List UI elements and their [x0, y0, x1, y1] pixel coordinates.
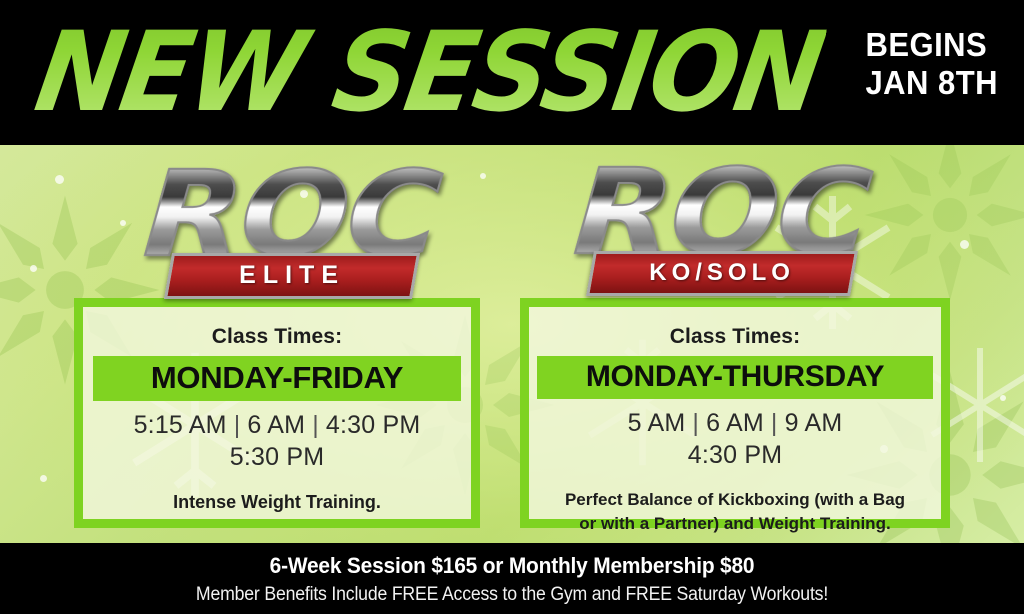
- class-times-label: Class Times:: [529, 325, 941, 349]
- logo-banner-kosolo: KO/SOLO: [586, 251, 858, 296]
- days-badge: MONDAY-THURSDAY: [537, 356, 933, 399]
- class-times-list: 5 AM|6 AM|9 AM 4:30 PM: [529, 407, 941, 471]
- times-line-2: 5:30 PM: [83, 441, 471, 473]
- program-description: Intense Weight Training.: [83, 490, 471, 515]
- class-times-label: Class Times:: [83, 325, 471, 349]
- snow-dot: [480, 173, 486, 179]
- session-start-date: BEGINS JAN 8TH: [865, 26, 998, 102]
- benefits-text: Member Benefits Include FREE Access to t…: [36, 584, 988, 606]
- program-panel-elite: Class Times: MONDAY-FRIDAY 5:15 AM|6 AM|…: [74, 298, 480, 528]
- logo-banner-text: ELITE: [171, 261, 413, 290]
- times-line-1: 5:15 AM|6 AM|4:30 PM: [83, 409, 471, 441]
- roc-kosolo-logo: ROC KO/SOLO: [572, 150, 872, 296]
- body-background: Class Times: MONDAY-FRIDAY 5:15 AM|6 AM|…: [0, 145, 1024, 543]
- days-badge: MONDAY-FRIDAY: [93, 356, 461, 401]
- times-line-2: 4:30 PM: [529, 439, 941, 471]
- program-description: Perfect Balance of Kickboxing (with a Ba…: [529, 488, 941, 536]
- snow-dot: [40, 475, 47, 482]
- roc-elite-logo: ROC ELITE: [142, 152, 442, 299]
- snow-dot: [120, 220, 126, 226]
- snow-dot: [55, 175, 64, 184]
- page-title: NEW SESSION: [27, 1, 832, 144]
- logo-banner-text: KO/SOLO: [593, 259, 851, 287]
- snow-dot: [960, 240, 969, 249]
- snow-dot: [1000, 395, 1006, 401]
- begins-date: JAN 8TH: [865, 64, 998, 102]
- pricing-text: 6-Week Session $165 or Monthly Membershi…: [26, 553, 999, 579]
- promo-poster: NEW SESSION BEGINS JAN 8TH: [0, 0, 1024, 614]
- snow-dot: [30, 265, 37, 272]
- logo-banner-elite: ELITE: [164, 253, 420, 299]
- begins-label: BEGINS: [865, 26, 998, 64]
- footer-bar: 6-Week Session $165 or Monthly Membershi…: [0, 543, 1024, 614]
- program-panel-kosolo: Class Times: MONDAY-THURSDAY 5 AM|6 AM|9…: [520, 298, 950, 528]
- times-line-1: 5 AM|6 AM|9 AM: [529, 407, 941, 439]
- header-bar: NEW SESSION BEGINS JAN 8TH: [0, 0, 1024, 145]
- class-times-list: 5:15 AM|6 AM|4:30 PM 5:30 PM: [83, 409, 471, 473]
